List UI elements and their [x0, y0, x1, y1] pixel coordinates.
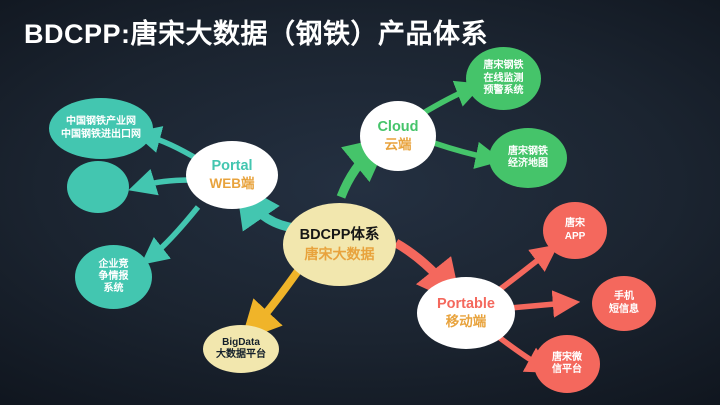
page-title: BDCPP:唐宋大数据（钢铁）产品体系: [24, 12, 488, 51]
leaf-line: 中国钢铁进出口网: [61, 129, 141, 141]
leaf-line: 经济地图: [508, 158, 548, 170]
arrow-cloud-to-leaf1: [420, 89, 470, 115]
arrow-portal-to-leaf2: [142, 180, 190, 186]
node-center[interactable]: BDCPP体系 唐宋大数据: [283, 203, 396, 286]
slide-canvas: BDCPP:唐宋大数据（钢铁）产品体系: [0, 0, 720, 405]
node-bigdata-platform[interactable]: BigData 大数据平台: [203, 325, 279, 373]
arrow-portal-to-leaf1: [147, 136, 199, 160]
leaf-line: 唐宋: [565, 218, 585, 230]
node-portal-hub-line2: WEB端: [210, 176, 255, 192]
leaf-line: 短信息: [609, 304, 639, 316]
leaf-line: 唐宋钢铁: [484, 60, 524, 72]
leaf-line: 预警系统: [484, 85, 524, 97]
node-center-line1: BDCPP体系: [300, 227, 380, 244]
arrow-center-to-cloud: [341, 151, 372, 197]
leaf-line: 争情报: [99, 271, 129, 283]
node-cloud-leaf-online-monitoring[interactable]: 唐宋钢铁 在线监测 预警系统: [466, 47, 541, 110]
leaf-line: 唐宋微: [552, 352, 582, 364]
leaf-line: 唐宋钢铁: [508, 146, 548, 158]
node-cloud-hub-line2: 云端: [385, 137, 412, 153]
leaf-line: APP: [565, 231, 586, 243]
leaf-line: 手机: [614, 291, 634, 303]
leaf-line: 企业竞: [99, 259, 129, 271]
node-cloud-hub[interactable]: Cloud 云端: [360, 101, 436, 171]
leaf-line: 中国钢铁产业网: [66, 116, 136, 128]
node-portable-leaf-wechat[interactable]: 唐宋微 信平台: [534, 335, 600, 393]
leaf-line: 在线监测: [484, 73, 524, 85]
arrow-portable-to-leaf1: [499, 253, 547, 290]
leaf-line: BigData: [222, 337, 260, 349]
leaf-line: 大数据平台: [216, 349, 266, 361]
node-portal-hub[interactable]: Portal WEB端: [186, 141, 278, 209]
node-portal-leaf-competitive-intelligence[interactable]: 企业竞 争情报 系统: [75, 245, 152, 309]
node-portable-leaf-sms[interactable]: 手机 短信息: [592, 276, 656, 331]
node-portable-hub[interactable]: Portable 移动端: [417, 277, 515, 349]
node-portal-leaf-blank[interactable]: [67, 161, 129, 213]
arrow-portal-to-leaf3: [152, 207, 198, 256]
node-portable-hub-line1: Portable: [437, 296, 495, 313]
arrow-center-to-bigdata: [255, 268, 300, 326]
arrow-center-to-portable: [396, 243, 447, 287]
node-portal-leaf-industry-net[interactable]: 中国钢铁产业网 中国钢铁进出口网: [49, 98, 153, 159]
arrow-portable-to-leaf2: [510, 303, 566, 308]
node-cloud-leaf-economic-map[interactable]: 唐宋钢铁 经济地图: [489, 128, 567, 188]
node-cloud-hub-line1: Cloud: [377, 119, 418, 136]
node-portable-hub-line2: 移动端: [446, 314, 487, 330]
node-portable-leaf-app[interactable]: 唐宋 APP: [543, 202, 607, 259]
node-center-line2: 唐宋大数据: [305, 246, 375, 263]
node-portal-hub-line1: Portal: [211, 158, 252, 175]
leaf-line: 信平台: [552, 364, 582, 376]
arrow-cloud-to-leaf2: [434, 143, 489, 158]
leaf-line: 系统: [104, 283, 124, 295]
